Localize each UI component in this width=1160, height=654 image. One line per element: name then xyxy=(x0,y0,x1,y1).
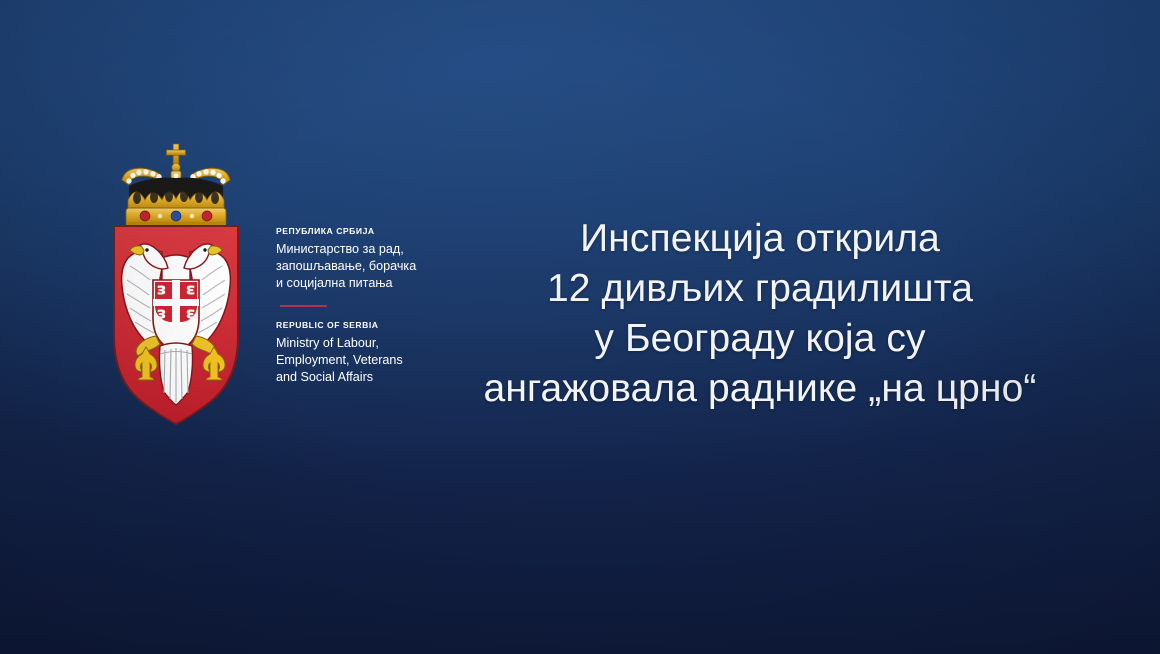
ministry-name-english: Ministry of Labour, Employment, Veterans… xyxy=(276,335,416,385)
ministry-name-english-line-1: Ministry of Labour, xyxy=(276,335,416,352)
republic-eyebrow-english: REPUBLIC OF SERBIA xyxy=(276,320,416,330)
republic-eyebrow-serbian: РЕПУБЛИКА СРБИЈА xyxy=(276,226,416,236)
ministry-name-serbian: Министарство за рад, запошљавање, борачк… xyxy=(276,241,416,291)
announcement-slide: РЕПУБЛИКА СРБИЈА Министарство за рад, за… xyxy=(0,0,1160,654)
serbia-coat-of-arms-icon xyxy=(100,140,252,430)
ministry-name-serbian-line-1: Министарство за рад, xyxy=(276,241,416,258)
headline-line-4: ангажовала раднике „на црно“ xyxy=(430,364,1090,414)
wordmark-divider xyxy=(280,305,327,307)
ministry-name-serbian-line-3: и социјална питања xyxy=(276,275,416,292)
headline-line-3: у Београду која су xyxy=(430,314,1090,364)
ministry-wordmark: РЕПУБЛИКА СРБИЈА Министарство за рад, за… xyxy=(276,140,416,385)
ministry-logo-lockup: РЕПУБЛИКА СРБИЈА Министарство за рад, за… xyxy=(100,140,416,430)
ministry-name-serbian-line-2: запошљавање, борачка xyxy=(276,258,416,275)
headline-line-2: 12 дивљих градилишта xyxy=(430,264,1090,314)
ministry-name-english-line-3: and Social Affairs xyxy=(276,369,416,386)
headline: Инспекција открила 12 дивљих градилишта … xyxy=(430,214,1090,414)
headline-line-1: Инспекција открила xyxy=(430,214,1090,264)
ministry-name-english-line-2: Employment, Veterans xyxy=(276,352,416,369)
